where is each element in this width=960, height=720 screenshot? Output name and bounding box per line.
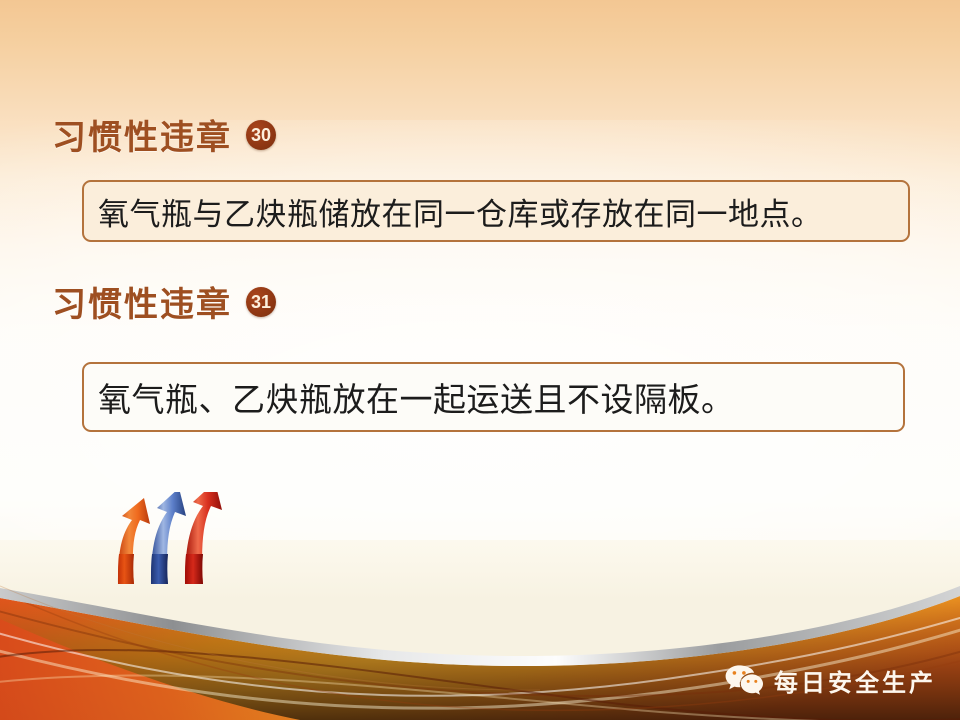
- heading-label: 习惯性违章: [52, 277, 232, 326]
- slide-canvas: 习惯性违章 30 氧气瓶与乙炔瓶储放在同一仓库或存放在同一地点。 习惯性违章 3…: [0, 0, 960, 720]
- statement-box-31: 氧气瓶、乙炔瓶放在一起运送且不设隔板。: [82, 362, 905, 432]
- heading-label: 习惯性违章: [52, 110, 232, 159]
- statement-text: 氧气瓶与乙炔瓶储放在同一仓库或存放在同一地点。: [98, 189, 823, 234]
- wechat-icon: [724, 664, 764, 698]
- wechat-watermark: 每日安全生产: [724, 663, 936, 698]
- three-rising-arrows-icon: [98, 492, 226, 584]
- section-number-badge: 31: [246, 287, 276, 317]
- section-number-badge: 30: [246, 120, 276, 150]
- statement-text: 氧气瓶、乙炔瓶放在一起运送且不设隔板。: [98, 373, 735, 421]
- watermark-label: 每日安全生产: [774, 663, 936, 698]
- section-heading-30: 习惯性违章 30: [52, 110, 276, 159]
- section-heading-31: 习惯性违章 31: [52, 277, 276, 326]
- statement-box-30: 氧气瓶与乙炔瓶储放在同一仓库或存放在同一地点。: [82, 180, 910, 242]
